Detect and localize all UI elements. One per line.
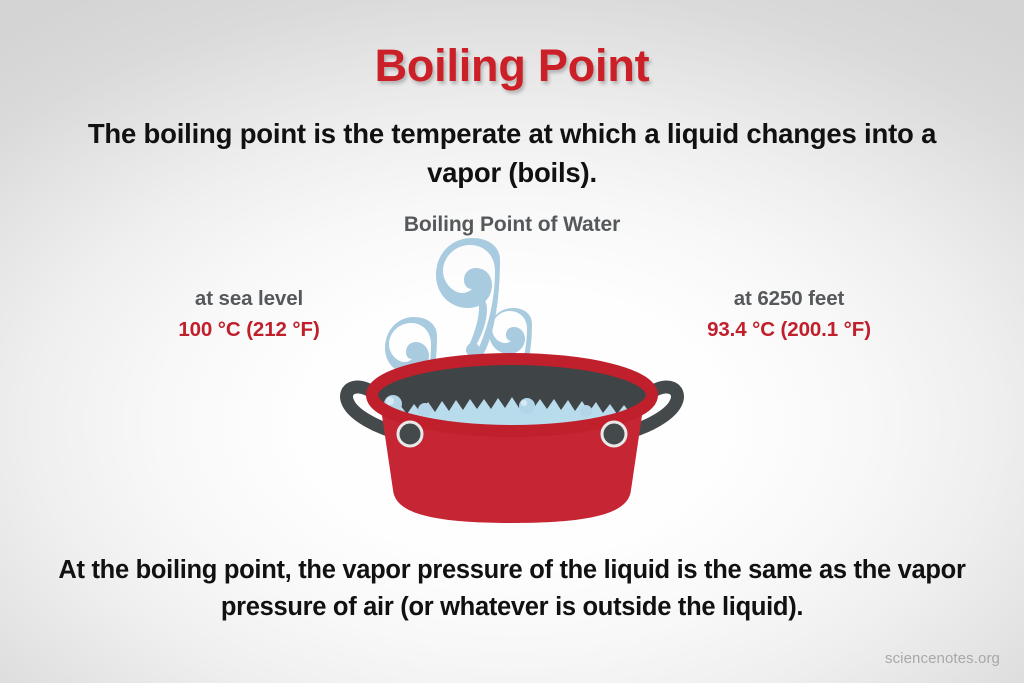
- boiling-pot-illustration: [331, 238, 693, 538]
- caption-text: At the boiling point, the vapor pressure…: [47, 552, 977, 626]
- bubble-in-pot-3: [519, 398, 535, 414]
- bubble-in-pot-4: [580, 405, 592, 417]
- handle-rivet-right: [602, 422, 626, 446]
- bubble-in-pot-3-highlight: [521, 400, 527, 406]
- bubble-in-pot-2: [418, 403, 432, 417]
- section-heading: Boiling Point of Water: [0, 213, 1024, 237]
- handle-rivet-left: [398, 422, 422, 446]
- bubble-in-pot-1-highlight: [386, 397, 394, 405]
- definition-text: The boiling point is the temperate at wh…: [82, 114, 942, 192]
- infographic-poster: Boiling Point The boiling point is the t…: [0, 0, 1024, 683]
- page-title: Boiling Point: [0, 40, 1024, 92]
- source-attribution: sciencenotes.org: [885, 650, 1000, 667]
